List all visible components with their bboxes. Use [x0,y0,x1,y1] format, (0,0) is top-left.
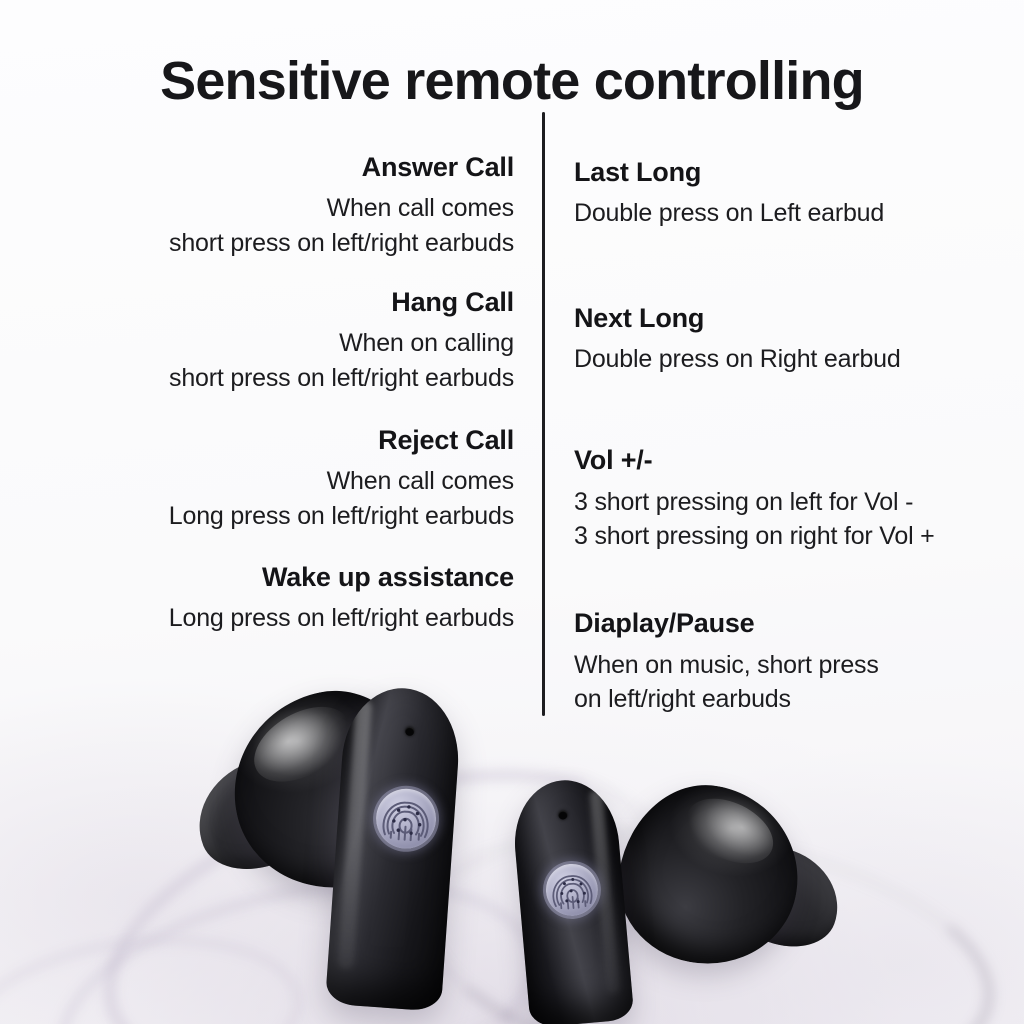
feature-block: Wake up assistance Long press on left/ri… [60,559,514,636]
feature-line: Long press on left/right earbuds [60,499,514,533]
feature-line: 3 short pressing on right for Vol + [574,519,1004,553]
page-title: Sensitive remote controlling [0,50,1024,114]
feature-block: Hang Call When on calling short press on… [60,284,514,395]
feature-heading: Last Long [574,154,1004,190]
right-feature-column: Last Long Double press on Left earbud Ne… [574,112,1004,740]
feature-block: Answer Call When call comes short press … [60,149,514,260]
earbud-stem [510,776,635,1024]
earbud-left [188,682,548,1024]
feature-heading: Wake up assistance [60,559,514,595]
microphone-hole-icon [405,727,415,737]
earbud-right [512,780,842,1024]
feature-line: on left/right earbuds [574,682,1004,716]
feature-heading: Vol +/- [574,442,1004,478]
fingerprint-icon [544,862,600,918]
feature-line: When on calling [60,326,514,360]
feature-line: When call comes [60,191,514,225]
feature-heading: Diaplay/Pause [574,605,1004,641]
feature-heading: Answer Call [60,149,514,185]
feature-line: short press on left/right earbuds [60,361,514,395]
feature-line: When on music, short press [574,648,1004,682]
feature-block: Reject Call When call comes Long press o… [60,422,514,533]
feature-block: Last Long Double press on Left earbud [574,154,1004,231]
feature-line: Double press on Left earbud [574,196,1004,230]
feature-line: short press on left/right earbuds [60,226,514,260]
fingerprint-icon [374,787,438,851]
feature-heading: Next Long [574,300,1004,336]
feature-line: When call comes [60,464,514,498]
feature-line: 3 short pressing on left for Vol - [574,485,1004,519]
feature-block: Vol +/- 3 short pressing on left for Vol… [574,442,1004,553]
feature-heading: Reject Call [60,422,514,458]
feature-heading: Hang Call [60,284,514,320]
left-feature-column: Answer Call When call comes short press … [60,112,514,660]
feature-columns: Answer Call When call comes short press … [0,112,1024,720]
feature-block: Next Long Double press on Right earbud [574,300,1004,377]
microphone-hole-icon [558,810,568,820]
feature-line: Double press on Right earbud [574,342,1004,376]
feature-block: Diaplay/Pause When on music, short press… [574,605,1004,716]
column-divider [542,112,545,716]
earbud-body [606,772,812,978]
feature-line: Long press on left/right earbuds [60,601,514,635]
